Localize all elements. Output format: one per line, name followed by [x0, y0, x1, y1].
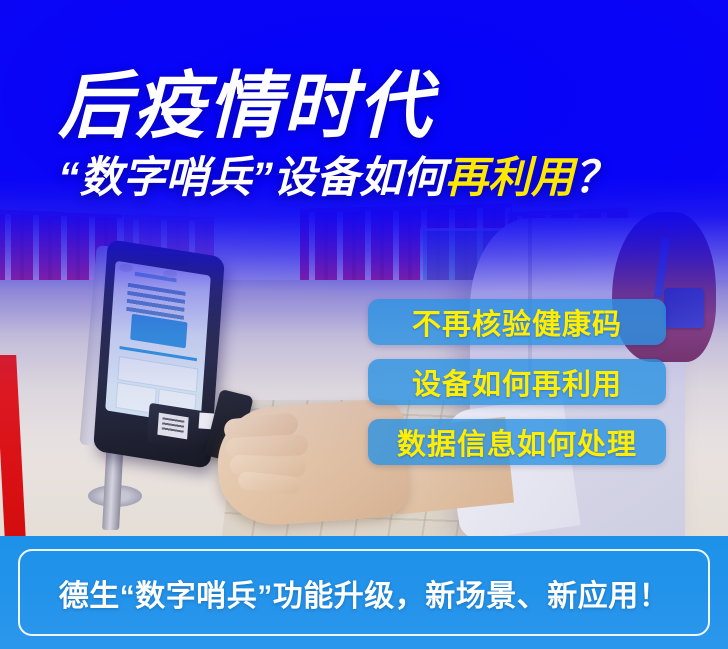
- kiosk-label-sticker: [157, 413, 188, 440]
- headline-question-mark: ？: [574, 154, 617, 202]
- bottom-banner-frame: 德生“数字哨兵”功能升级，新场景、新应用！: [18, 549, 710, 636]
- topic-pill-list: 不再核验健康码 设备如何再利用 数据信息如何处理: [368, 299, 666, 479]
- headline-line-2: “数字哨兵”设备如何再利用？: [58, 157, 617, 200]
- bottom-banner-text: 德生“数字哨兵”功能升级，新场景、新应用！: [59, 571, 670, 615]
- headline-line-1: 后疫情时代: [58, 70, 617, 143]
- poster-root: 后疫情时代 “数字哨兵”设备如何再利用？ 不再核验健康码 设备如何再利用 数据信…: [0, 0, 728, 649]
- topic-pill-2[interactable]: 设备如何再利用: [368, 359, 666, 405]
- headline-line-2-prefix: “数字哨兵”设备如何: [58, 154, 445, 202]
- person-id-badge: [664, 288, 704, 328]
- topic-pill-2-label: 设备如何再利用: [412, 361, 622, 403]
- bottom-banner: 德生“数字哨兵”功能升级，新场景、新应用！: [0, 536, 728, 649]
- topic-pill-1-label: 不再核验健康码: [412, 301, 622, 343]
- topic-pill-3-label: 数据信息如何处理: [397, 421, 637, 463]
- headline-block: 后疫情时代 “数字哨兵”设备如何再利用？: [58, 70, 617, 200]
- headline-highlight-text: 再利用: [445, 154, 574, 202]
- kiosk-screen: [105, 261, 211, 426]
- topic-pill-3[interactable]: 数据信息如何处理: [368, 419, 666, 465]
- topic-pill-1[interactable]: 不再核验健康码: [368, 299, 666, 345]
